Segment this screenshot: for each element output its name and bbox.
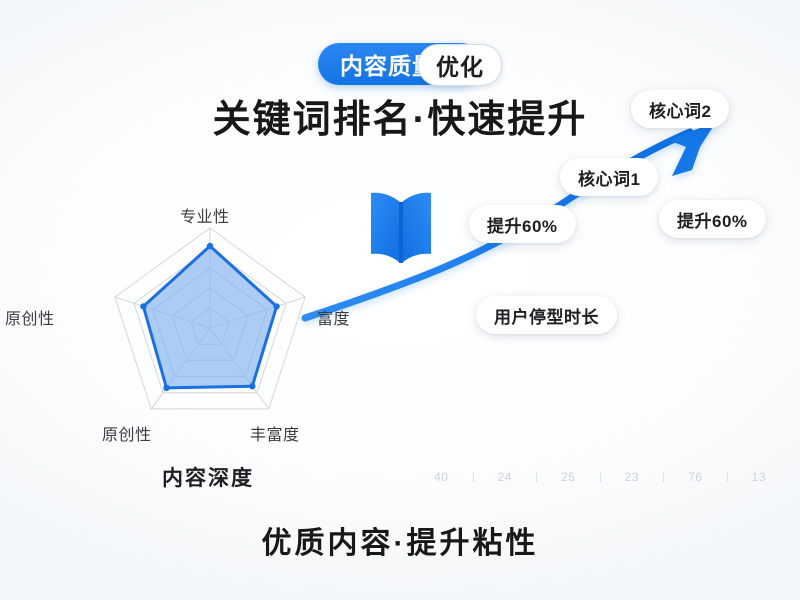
radar-label-1: 富度 [317, 305, 350, 329]
axis-tick-label: 13 [728, 470, 791, 484]
radar-label-3: 原创性 [102, 421, 152, 445]
radar-label-0: 专业性 [180, 203, 230, 227]
radar-label-2: 丰富度 [250, 421, 300, 445]
content-depth-caption: 内容深度 [162, 462, 254, 492]
axis-tick-label: 23 [601, 470, 664, 484]
chip-increase-60-left: 提升60% [469, 205, 576, 243]
badge-secondary: 优化 [418, 44, 502, 86]
infographic-canvas: 内容质量 优化 关键词排名·快速提升 [0, 0, 800, 600]
open-book-icon [368, 186, 434, 268]
badge-primary: 内容质量 优化 [318, 43, 482, 85]
chip-increase-60-right: 提升60% [659, 200, 766, 238]
radar-chart-svg [45, 225, 375, 455]
axis-tick-label: 76 [664, 470, 727, 484]
axis-tick-label: 40 [410, 470, 473, 484]
badge-secondary-label: 优化 [436, 48, 484, 82]
chip-core-keyword-1: 核心词1 [560, 158, 658, 196]
axis-strip: 402425237613 [410, 466, 790, 488]
radar-chart: 专业性 富度 丰富度 原创性 原创性 [45, 225, 375, 455]
chip-user-dwell-time: 用户停型时长 [476, 296, 617, 334]
axis-tick-label: 24 [474, 470, 537, 484]
page-subtitle: 优质内容·提升粘性 [0, 518, 800, 562]
chip-core-keyword-2: 核心词2 [631, 90, 729, 128]
badge-row: 内容质量 优化 [0, 40, 800, 88]
axis-tick-label: 25 [537, 470, 600, 484]
radar-series-area [143, 246, 276, 388]
radar-label-4: 原创性 [5, 305, 55, 329]
